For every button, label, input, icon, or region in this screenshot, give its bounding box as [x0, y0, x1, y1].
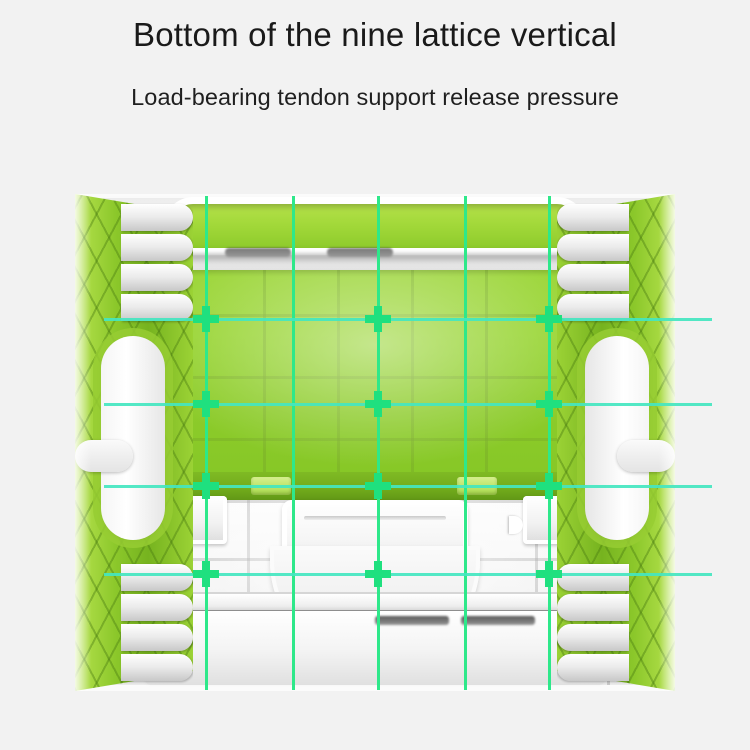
crate-bottom-rail: [171, 592, 579, 613]
left-wall-fin: [121, 624, 193, 651]
left-wall-fin: [121, 654, 193, 681]
right-wall-fin: [557, 294, 629, 321]
right-wall-handle-grip: [585, 336, 649, 540]
right-wall-fin: [557, 594, 629, 621]
right-wall-fin: [557, 654, 629, 681]
right-wall-fin: [557, 564, 629, 591]
left-wall-handle-grip: [101, 336, 165, 540]
crate-right-side-wall: [557, 194, 675, 691]
right-wall-fin: [557, 234, 629, 261]
product-feature-page: Bottom of the nine lattice vertical Load…: [0, 0, 750, 750]
crate-shelf-clip: [457, 477, 497, 495]
left-wall-fin: [121, 294, 193, 321]
left-wall-fin: [121, 204, 193, 231]
left-wall-fin: [121, 564, 193, 591]
crate-bottom-vent: [375, 616, 449, 625]
crate-shelf-clip: [251, 477, 291, 495]
left-wall-fin: [121, 264, 193, 291]
crate-left-side-wall: [75, 194, 193, 691]
crate-center-bowl-seam: [304, 516, 446, 520]
right-wall-fin: [557, 624, 629, 651]
right-wall-highlight: [659, 194, 675, 691]
crate-bottom-vent: [461, 616, 535, 625]
right-wall-fin: [557, 264, 629, 291]
right-wall-fin: [557, 204, 629, 231]
left-wall-fin: [121, 234, 193, 261]
crate-top-vent: [225, 248, 291, 257]
crate-top-handle-slot: [171, 204, 579, 248]
left-wall-highlight: [75, 194, 91, 691]
product-crate-illustration: [75, 194, 675, 691]
left-wall-fin: [121, 594, 193, 621]
crate-top-vent: [327, 248, 393, 257]
product-photo: [0, 0, 750, 750]
